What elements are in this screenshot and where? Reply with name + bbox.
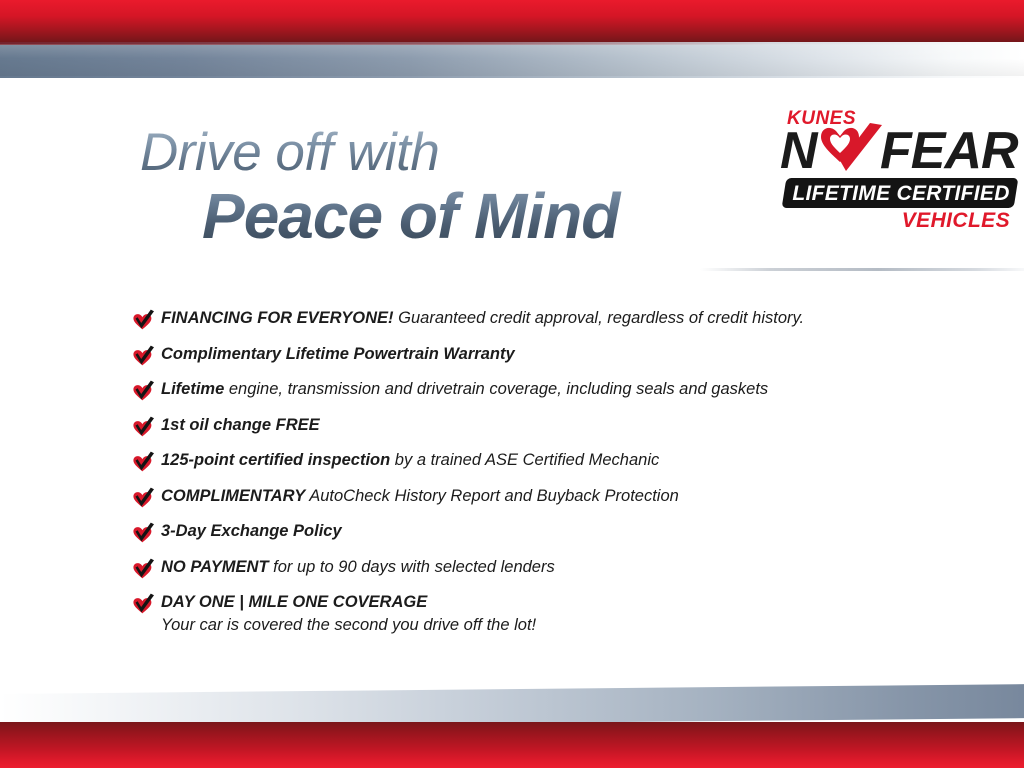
benefit-text-bold: 125-point certified inspection [161, 451, 390, 469]
benefit-item: 125-point certified inspection by a trai… [131, 450, 961, 473]
benefit-text-bold: Lifetime [161, 380, 224, 398]
benefit-text: 3-Day Exchange Policy [161, 521, 342, 542]
benefit-item: Lifetime engine, transmission and drivet… [131, 379, 961, 402]
benefit-text-bold: NO PAYMENT [161, 558, 269, 576]
benefit-text-wrap: 125-point certified inspection by a trai… [161, 450, 659, 471]
benefit-text: Lifetime engine, transmission and drivet… [161, 379, 768, 400]
heart-check-bullet-icon [131, 416, 155, 438]
benefit-text-bold: DAY ONE | MILE ONE COVERAGE [161, 593, 427, 611]
benefit-item: DAY ONE | MILE ONE COVERAGEYour car is c… [131, 592, 961, 636]
benefit-text-bold: 3-Day Exchange Policy [161, 522, 342, 540]
top-gray-band-sheen [0, 44, 1024, 76]
heart-check-bullet-icon [131, 593, 155, 615]
logo-fear-text: FEAR [880, 125, 1018, 177]
benefit-text: NO PAYMENT for up to 90 days with select… [161, 557, 555, 578]
benefit-item: 1st oil change FREE [131, 415, 961, 438]
heart-check-bullet-icon [131, 558, 155, 580]
benefit-text-wrap: Complimentary Lifetime Powertrain Warran… [161, 344, 515, 365]
kunes-no-fear-logo: KUNES N FEAR LIFETIME CERTIFIED VEHICLES [776, 108, 1016, 242]
benefit-text-wrap: Lifetime engine, transmission and drivet… [161, 379, 768, 400]
benefit-text-wrap: 1st oil change FREE [161, 415, 320, 436]
heart-check-bullet-icon [131, 522, 155, 544]
heart-check-bullet-icon [131, 487, 155, 509]
headline-line-1: Drive off with [140, 126, 780, 179]
heart-check-bullet-icon [131, 345, 155, 367]
logo-letter-n: N [780, 125, 816, 177]
benefit-item: NO PAYMENT for up to 90 days with select… [131, 557, 961, 580]
benefit-item: FINANCING FOR EVERYONE! Guaranteed credi… [131, 308, 961, 331]
benefit-text: 125-point certified inspection by a trai… [161, 450, 659, 471]
benefit-text: Complimentary Lifetime Powertrain Warran… [161, 344, 515, 365]
promo-page: Drive off with Peace of Mind KUNES N FEA… [0, 0, 1024, 768]
benefit-text-bold: 1st oil change FREE [161, 416, 320, 434]
benefit-text: DAY ONE | MILE ONE COVERAGE [161, 592, 536, 613]
benefit-text-bold: Complimentary Lifetime Powertrain Warran… [161, 345, 515, 363]
benefit-text-rest: by a trained ASE Certified Mechanic [390, 451, 659, 469]
benefit-text-bold: FINANCING FOR EVERYONE! [161, 309, 394, 327]
benefit-subtext: Your car is covered the second you drive… [161, 615, 536, 636]
logo-certified-text: LIFETIME CERTIFIED [788, 180, 1014, 207]
benefit-item: 3-Day Exchange Policy [131, 521, 961, 544]
benefit-text: 1st oil change FREE [161, 415, 320, 436]
benefit-text-rest: AutoCheck History Report and Buyback Pro… [305, 487, 679, 505]
heart-check-icon [820, 123, 886, 183]
heart-check-bullet-icon [131, 309, 155, 331]
top-red-band [0, 0, 1024, 42]
heart-check-bullet-icon [131, 380, 155, 402]
headline: Drive off with Peace of Mind [140, 126, 780, 250]
benefit-text-bold: COMPLIMENTARY [161, 487, 305, 505]
logo-wordmark: N FEAR [776, 125, 1016, 181]
header-divider [700, 268, 1024, 271]
benefit-text: FINANCING FOR EVERYONE! Guaranteed credi… [161, 308, 804, 329]
benefit-item: Complimentary Lifetime Powertrain Warran… [131, 344, 961, 367]
logo-vehicles-text: VEHICLES [902, 209, 1010, 233]
benefit-text-wrap: COMPLIMENTARY AutoCheck History Report a… [161, 486, 679, 507]
bottom-red-band [0, 722, 1024, 768]
headline-line-2: Peace of Mind [202, 183, 780, 250]
benefit-text-rest: engine, transmission and drivetrain cove… [224, 380, 768, 398]
benefit-text-wrap: DAY ONE | MILE ONE COVERAGEYour car is c… [161, 592, 536, 636]
benefit-text-rest: for up to 90 days with selected lenders [269, 558, 555, 576]
benefit-item: COMPLIMENTARY AutoCheck History Report a… [131, 486, 961, 509]
benefit-text-wrap: 3-Day Exchange Policy [161, 521, 342, 542]
benefits-list: FINANCING FOR EVERYONE! Guaranteed credi… [131, 308, 961, 649]
benefit-text-wrap: NO PAYMENT for up to 90 days with select… [161, 557, 555, 578]
benefit-text: COMPLIMENTARY AutoCheck History Report a… [161, 486, 679, 507]
heart-check-bullet-icon [131, 451, 155, 473]
benefit-text-rest: Guaranteed credit approval, regardless o… [394, 309, 805, 327]
benefit-text-wrap: FINANCING FOR EVERYONE! Guaranteed credi… [161, 308, 804, 329]
